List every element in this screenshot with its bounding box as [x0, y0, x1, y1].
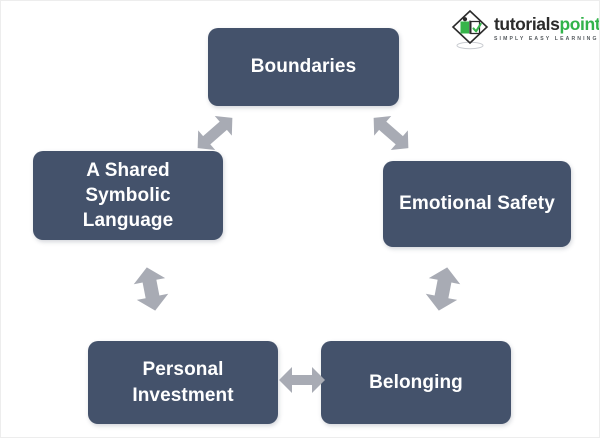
- logo-word-point: point: [559, 14, 600, 34]
- double-arrow-diagonal-nw-se-icon: [365, 109, 417, 157]
- node-emotional-safety: Emotional Safety: [383, 161, 571, 247]
- double-arrow-diagonal-ne-sw-icon: [189, 109, 241, 157]
- node-language-line-2: Language: [43, 208, 213, 233]
- logo-wordmark: tutorialspoint SIMPLY EASY LEARNING: [494, 16, 600, 42]
- node-boundaries: Boundaries: [208, 28, 399, 106]
- node-emotional-line-1: Emotional Safety: [399, 191, 555, 216]
- double-arrow-horizontal-icon: [278, 362, 326, 398]
- node-belonging: Belonging: [321, 341, 511, 424]
- node-boundaries-line-1: Boundaries: [251, 54, 357, 79]
- node-personal-line-2: Investment: [132, 383, 233, 408]
- tutorialspoint-logo-icon: [448, 8, 492, 50]
- node-language-line-1: A Shared Symbolic: [43, 158, 213, 208]
- double-arrow-vertical-icon: [128, 259, 174, 319]
- double-arrow-vertical-icon: [420, 259, 466, 319]
- node-belonging-line-1: Belonging: [369, 370, 463, 395]
- node-a-shared-symbolic-language: A Shared Symbolic Language: [33, 151, 223, 240]
- logo-tagline: SIMPLY EASY LEARNING: [494, 37, 600, 42]
- node-personal-investment: Personal Investment: [88, 341, 278, 424]
- node-personal-line-1: Personal: [132, 357, 233, 382]
- tutorialspoint-logo: tutorialspoint SIMPLY EASY LEARNING: [448, 8, 596, 50]
- diagram-canvas: tutorialspoint SIMPLY EASY LEARNING Boun…: [0, 0, 600, 438]
- logo-word-tutorials: tutorials: [494, 14, 559, 34]
